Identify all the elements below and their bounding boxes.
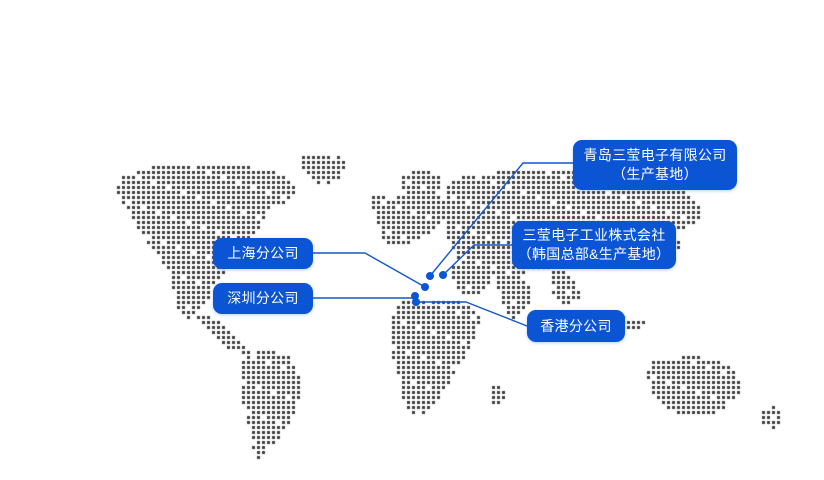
label-qingdao-line1: 青岛三莹电子有限公司	[584, 146, 727, 165]
label-chip-shenzhen[interactable]: 深圳分公司	[213, 283, 313, 314]
world-map-infographic: 青岛三莹电子有限公司 （生产基地） 三莹电子工业株式会社 （韩国总部&生产基地）…	[0, 0, 824, 480]
label-qingdao-line2: （生产基地）	[612, 165, 698, 184]
marker-dot-korea[interactable]	[439, 271, 447, 279]
label-shanghai-line1: 上海分公司	[227, 244, 299, 263]
label-chip-shanghai[interactable]: 上海分公司	[213, 238, 313, 269]
connector-line-shanghai	[313, 253, 425, 287]
label-hongkong-line1: 香港分公司	[540, 317, 612, 336]
label-chip-hongkong[interactable]: 香港分公司	[527, 310, 625, 342]
connector-lines-layer	[0, 0, 824, 480]
connector-line-hongkong	[417, 302, 527, 326]
marker-dot-hongkong[interactable]	[412, 298, 420, 306]
connector-line-korea	[443, 245, 512, 275]
label-korea-line1: 三莹电子工业株式会社	[523, 226, 666, 245]
label-chip-qingdao[interactable]: 青岛三莹电子有限公司 （生产基地）	[573, 140, 737, 190]
label-korea-line2: （韩国总部&生产基地）	[518, 245, 671, 264]
label-chip-korea[interactable]: 三莹电子工业株式会社 （韩国总部&生产基地）	[512, 221, 676, 269]
marker-dot-qingdao[interactable]	[426, 272, 434, 280]
label-shenzhen-line1: 深圳分公司	[227, 289, 299, 308]
marker-dot-shanghai[interactable]	[421, 283, 429, 291]
